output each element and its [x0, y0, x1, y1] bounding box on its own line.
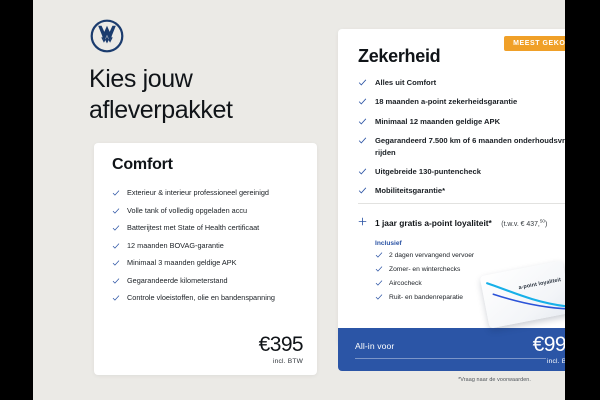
list-item-label: Gegarandeerde kilometerstand [127, 276, 228, 285]
check-icon [112, 207, 120, 215]
check-icon [375, 251, 383, 259]
list-item-label: Batterijtest met State of Health certifi… [127, 223, 259, 232]
list-item: Volle tank of volledig opgeladen accu [112, 206, 304, 217]
list-item-label: 2 dagen vervangend vervoer [389, 252, 474, 259]
allin-price-bar: All-in voor €995 incl. BTW [338, 328, 590, 371]
section-divider [358, 203, 580, 204]
list-item: Gegarandeerd 7.500 km of 6 maanden onder… [358, 135, 580, 158]
list-item-label: 18 maanden a-point zekerheidsgarantie [375, 97, 517, 106]
list-item: 18 maanden a-point zekerheidsgarantie [358, 96, 580, 107]
comfort-price-block: €395 incl. BTW [259, 334, 303, 365]
list-item-label: Uitgebreide 130-puntencheck [375, 167, 481, 176]
check-icon [112, 259, 120, 267]
allin-label: All-in voor [355, 341, 394, 351]
loyalty-header: 1 jaar gratis a-point loyaliteit* (t.w.v… [358, 213, 583, 231]
check-icon [112, 224, 120, 232]
list-item: Minimaal 12 maanden geldige APK [358, 116, 580, 127]
promo-banner: Kies jouw afleverpakket Comfort Exterieu… [0, 0, 600, 400]
comfort-title: Comfort [112, 156, 173, 174]
list-item-label: Aircocheck [389, 280, 422, 287]
check-icon [112, 294, 120, 302]
check-icon [358, 97, 367, 106]
list-item-label: Alles uit Comfort [375, 78, 436, 87]
allin-rule [355, 358, 546, 359]
letterbox-right [565, 0, 600, 400]
check-icon [375, 293, 383, 301]
list-item-label: Minimaal 3 maanden geldige APK [127, 258, 237, 267]
footnote: *Vraag naar de voorwaarden. [458, 377, 531, 383]
check-icon [358, 117, 367, 126]
check-icon [112, 277, 120, 285]
loyalty-title: 1 jaar gratis a-point loyaliteit* [375, 218, 492, 228]
list-item-label: 12 maanden BOVAG-garantie [127, 241, 224, 250]
list-item: Minimaal 3 maanden geldige APK [112, 258, 304, 269]
comfort-package-card[interactable]: Comfort Exterieur & interieur profession… [94, 143, 317, 375]
list-item: Controle vloeistoffen, olie en bandenspa… [112, 293, 304, 304]
check-icon [112, 242, 120, 250]
list-item: Gegarandeerde kilometerstand [112, 276, 304, 287]
check-icon [358, 78, 367, 87]
list-item: Alles uit Comfort [358, 77, 580, 88]
list-item-label: Zomer- en winterchecks [389, 266, 460, 273]
loyalty-value: (t.w.v. € 437,50) [501, 221, 547, 228]
page-title: Kies jouw afleverpakket [89, 64, 304, 125]
comfort-feature-list: Exterieur & interieur professioneel gere… [112, 188, 304, 311]
check-icon [358, 136, 367, 145]
check-icon [375, 265, 383, 273]
list-item-label: Exterieur & interieur professioneel gere… [127, 188, 269, 197]
list-item: Mobiliteitsgarantie* [358, 185, 580, 196]
comfort-price: €395 [259, 334, 303, 355]
letterbox-left [0, 0, 33, 400]
banner-canvas: Kies jouw afleverpakket Comfort Exterieu… [33, 0, 565, 400]
list-item: Batterijtest met State of Health certifi… [112, 223, 304, 234]
list-item-label: Gegarandeerd 7.500 km of 6 maanden onder… [375, 136, 569, 156]
check-icon [358, 167, 367, 176]
list-item: 12 maanden BOVAG-garantie [112, 241, 304, 252]
list-item-label: Mobiliteitsgarantie* [375, 186, 445, 195]
list-item-label: Volle tank of volledig opgeladen accu [127, 206, 247, 215]
list-item: 2 dagen vervangend vervoer [375, 251, 583, 260]
list-item: Uitgebreide 130-puntencheck [358, 166, 580, 177]
list-item-label: Controle vloeistoffen, olie en bandenspa… [127, 293, 275, 302]
zekerheid-title: Zekerheid [358, 46, 440, 67]
zekerheid-feature-list: Alles uit Comfort 18 maanden a-point zek… [358, 77, 580, 205]
check-icon [375, 279, 383, 287]
plus-icon [358, 213, 367, 222]
list-item: Exterieur & interieur professioneel gere… [112, 188, 304, 199]
volkswagen-logo [90, 19, 124, 53]
check-icon [358, 186, 367, 195]
inclusief-label: Inclusief [375, 240, 583, 247]
check-icon [112, 189, 120, 197]
comfort-price-note: incl. BTW [259, 358, 303, 365]
list-item-label: Minimaal 12 maanden geldige APK [375, 117, 500, 126]
list-item-label: Ruit- en bandenreparatie [389, 294, 463, 301]
